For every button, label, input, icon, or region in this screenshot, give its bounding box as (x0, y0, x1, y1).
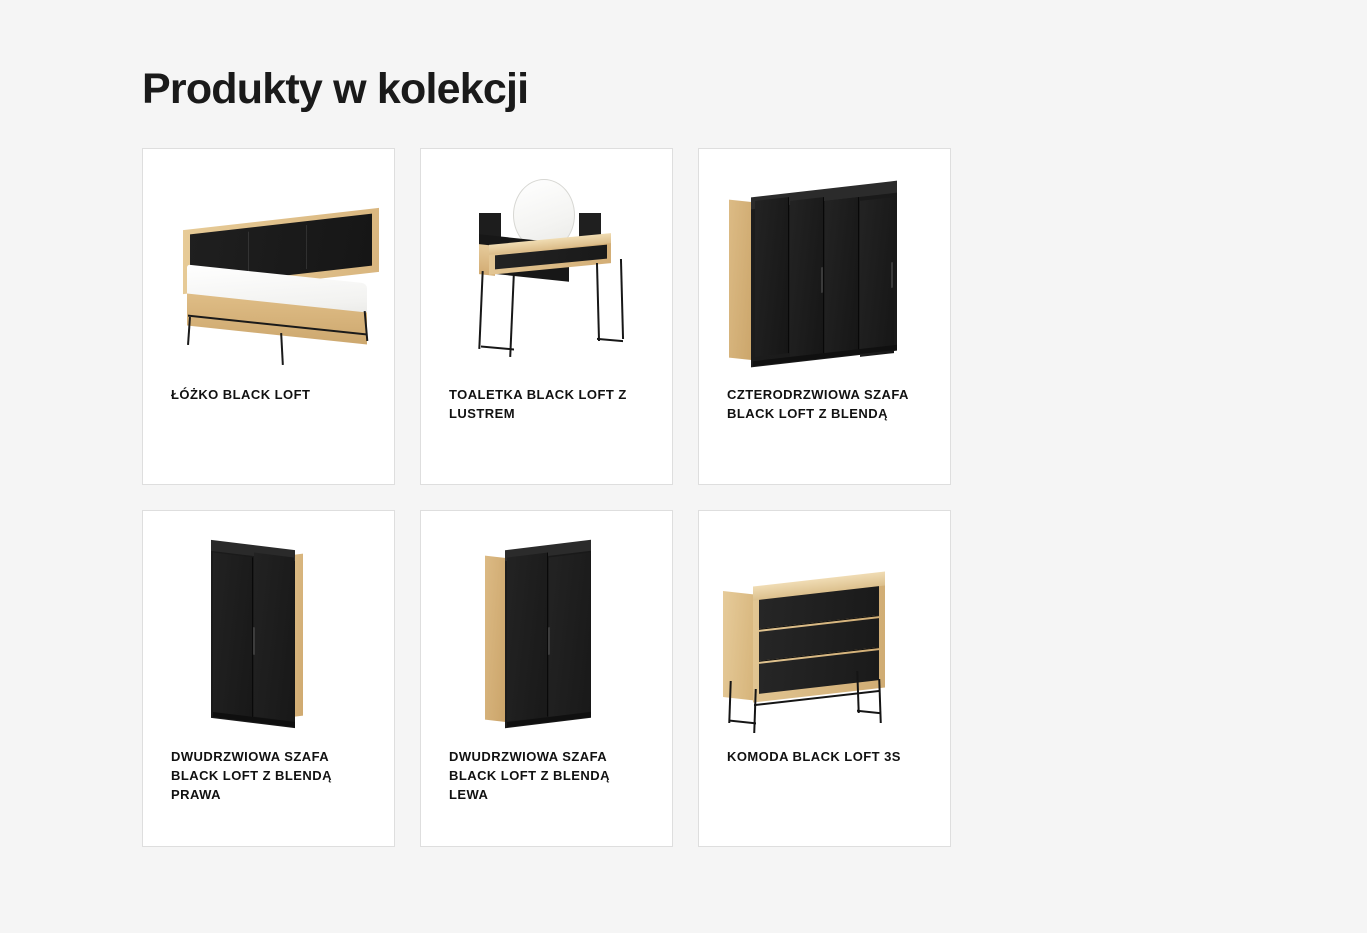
page-root: Produkty w kolekcji ŁÓŻKO B (0, 0, 1367, 933)
collection-products-section: Produkty w kolekcji ŁÓŻKO B (142, 0, 1226, 847)
wardrobe-handle-right (891, 262, 893, 288)
wardrobe-door-1 (755, 197, 789, 357)
product-image-two-door-wardrobe-left (421, 511, 672, 748)
product-title: DWUDRZWIOWA SZAFA BLACK LOFT Z BLENDĄ PR… (143, 748, 394, 824)
dresser-foot-left (730, 720, 756, 725)
two-door-wardrobe-left-illustration (479, 539, 609, 745)
vanity-leg-front-left (478, 271, 483, 349)
bed-illustration (163, 211, 375, 386)
bed-leg-middle (280, 333, 284, 365)
vanity-foot-right (597, 338, 623, 342)
product-title: KOMODA BLACK LOFT 3S (699, 748, 950, 824)
product-grid: ŁÓŻKO BLACK LOFT (142, 148, 1226, 847)
product-image-bed (143, 149, 394, 386)
product-title: ŁÓŻKO BLACK LOFT (143, 386, 394, 462)
wardrobe-door-2 (549, 552, 590, 721)
product-image-chest-of-drawers (699, 511, 950, 748)
dressing-table-illustration (451, 179, 646, 386)
wardrobe-door-1 (507, 552, 548, 721)
wardrobe-door-4 (860, 197, 894, 357)
vanity-leg-front-right (596, 263, 600, 341)
wardrobe-door-2 (254, 553, 294, 722)
product-card-bed[interactable]: ŁÓŻKO BLACK LOFT (142, 148, 395, 485)
product-card-four-door-wardrobe[interactable]: CZTERODRZWIOWA SZAFA BLACK LOFT Z BLENDĄ (698, 148, 951, 485)
product-card-two-door-wardrobe-left[interactable]: DWUDRZWIOWA SZAFA BLACK LOFT Z BLENDĄ LE… (420, 510, 673, 847)
dresser-foot-right (857, 710, 881, 715)
four-door-wardrobe-illustration (729, 187, 919, 377)
product-card-dressing-table[interactable]: TOALETKA BLACK LOFT Z LUSTREM (420, 148, 673, 485)
product-title: TOALETKA BLACK LOFT Z LUSTREM (421, 386, 672, 462)
dresser-leg-front-left (753, 689, 757, 733)
chest-of-drawers-illustration (723, 571, 923, 741)
wardrobe-handle-left (821, 267, 823, 293)
product-card-chest-of-drawers[interactable]: KOMODA BLACK LOFT 3S (698, 510, 951, 847)
page-title: Produkty w kolekcji (142, 0, 1226, 111)
product-title: CZTERODRZWIOWA SZAFA BLACK LOFT Z BLENDĄ (699, 386, 950, 462)
product-title: DWUDRZWIOWA SZAFA BLACK LOFT Z BLENDĄ LE… (421, 748, 672, 824)
wardrobe-handle (548, 627, 550, 655)
wardrobe-door-3 (825, 197, 859, 357)
wardrobe-door-2 (790, 197, 824, 357)
two-door-wardrobe-right-illustration (205, 543, 325, 743)
product-image-two-door-wardrobe-right (143, 511, 394, 748)
wardrobe-handle (253, 627, 255, 655)
product-image-four-door-wardrobe (699, 149, 950, 386)
product-image-dressing-table (421, 149, 672, 386)
wardrobe-door-1 (213, 553, 253, 722)
dresser-leg-back-left (728, 681, 731, 723)
vanity-leg-back-right (620, 259, 624, 339)
product-card-two-door-wardrobe-right[interactable]: DWUDRZWIOWA SZAFA BLACK LOFT Z BLENDĄ PR… (142, 510, 395, 847)
vanity-leg-back-left (509, 275, 515, 357)
